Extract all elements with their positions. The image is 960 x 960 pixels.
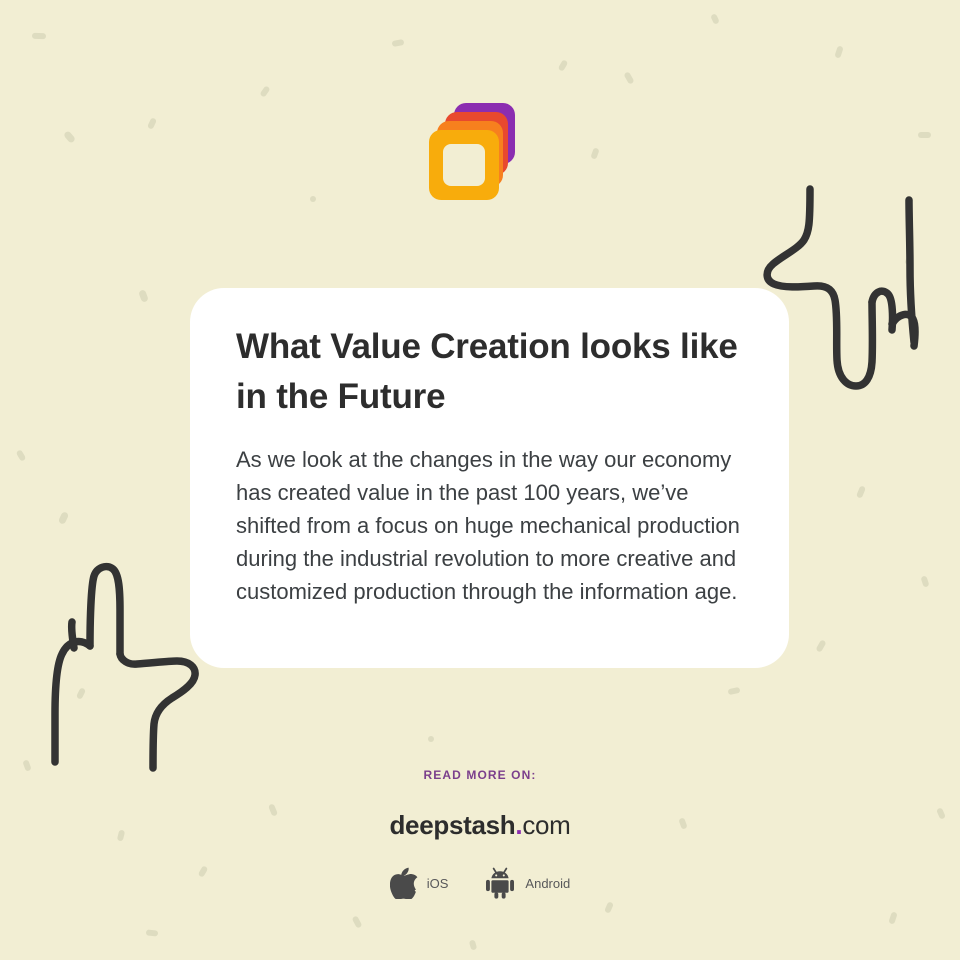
confetti-speck bbox=[834, 45, 843, 58]
confetti-speck bbox=[63, 130, 76, 144]
confetti-speck bbox=[138, 289, 149, 303]
ios-label: iOS bbox=[427, 876, 449, 891]
confetti-speck bbox=[16, 449, 27, 462]
brand-tld: com bbox=[522, 810, 570, 840]
confetti-speck bbox=[918, 132, 931, 138]
confetti-speck bbox=[76, 687, 86, 700]
footer: READ MORE ON: deepstash.com iOS bbox=[0, 768, 960, 899]
confetti-speck bbox=[147, 117, 157, 130]
confetti-speck bbox=[310, 196, 316, 202]
idea-card-content: What Value Creation looks like in the Fu… bbox=[190, 288, 789, 608]
poster-canvas: What Value Creation looks like in the Fu… bbox=[0, 0, 960, 960]
confetti-speck bbox=[146, 929, 159, 936]
confetti-speck bbox=[352, 915, 363, 928]
logo-inner-cutout bbox=[443, 144, 485, 186]
android-badge[interactable]: Android bbox=[484, 867, 570, 899]
page-title: What Value Creation looks like in the Fu… bbox=[236, 322, 743, 421]
app-store-badges: iOS bbox=[0, 867, 960, 899]
deepstash-logo bbox=[427, 103, 519, 195]
confetti-speck bbox=[920, 575, 929, 587]
confetti-speck bbox=[856, 485, 866, 498]
brand-wordmark[interactable]: deepstash.com bbox=[0, 810, 960, 841]
confetti-speck bbox=[428, 736, 434, 742]
confetti-speck bbox=[888, 911, 897, 924]
confetti-speck bbox=[904, 253, 913, 265]
hand-pointing-up-illustration bbox=[22, 556, 200, 776]
confetti-speck bbox=[623, 71, 634, 84]
idea-body-text: As we look at the changes in the way our… bbox=[236, 443, 743, 608]
idea-card: What Value Creation looks like in the Fu… bbox=[190, 288, 789, 668]
confetti-speck bbox=[558, 59, 569, 72]
confetti-speck bbox=[58, 511, 69, 525]
confetti-speck bbox=[392, 39, 405, 47]
confetti-speck bbox=[32, 33, 46, 39]
android-label: Android bbox=[525, 876, 570, 891]
apple-icon bbox=[390, 867, 418, 899]
confetti-speck bbox=[469, 939, 478, 950]
brand-name: deepstash bbox=[389, 810, 515, 840]
android-icon bbox=[484, 867, 516, 899]
ios-badge[interactable]: iOS bbox=[390, 867, 449, 899]
confetti-speck bbox=[710, 13, 720, 25]
confetti-speck bbox=[259, 85, 270, 97]
confetti-speck bbox=[604, 901, 614, 913]
confetti-speck bbox=[815, 639, 826, 652]
confetti-speck bbox=[728, 687, 741, 695]
read-more-label: READ MORE ON: bbox=[0, 768, 960, 782]
confetti-speck bbox=[590, 147, 599, 159]
